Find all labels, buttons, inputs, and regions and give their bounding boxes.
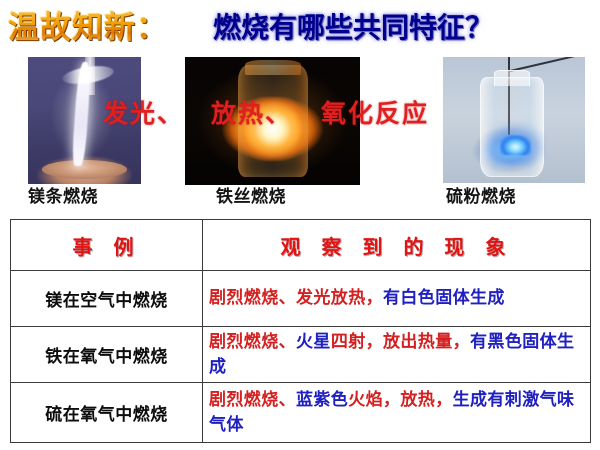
phenomenon-cell-iron: 剧烈燃烧、火星四射，放出热量，有黑色固体生成 [203,327,591,383]
table-header-case-label: 事 例 [73,235,141,259]
blue-flame-shape [500,135,531,155]
phenomenon-cell-magnesium: 剧烈燃烧、发光放热，有白色固体生成 [203,271,591,327]
deflagrating-spoon-arm-shape [510,57,582,71]
title-lead-text: 温故知新： [8,8,168,48]
phenomenon-text-blue-2: 生成 [470,288,505,308]
case-cell-iron: 铁在氧气中燃烧 [11,327,203,383]
phenomenon-text-red-2: 四射，放出热量， [331,332,470,352]
overlay-phrase-heat-release: 放热、 [211,98,292,130]
phenomenon-text-red: 剧烈燃烧、 [209,390,296,410]
crucible-dish-shape [42,160,128,179]
phenomenon-text-red: 剧烈燃烧、发光放热， [209,288,383,308]
caption-sulfur: 硫粉燃烧 [446,186,516,208]
gas-jar-neck-shape [245,60,301,75]
table-row: 铁在氧气中燃烧 剧烈燃烧、火星四射，放出热量，有黑色固体生成 [11,327,591,383]
table-header-phenomenon-cell: 观 察 到 的 现 象 [203,220,591,271]
slide-title-row: 温故知新： 燃烧有哪些共同特征？ [0,6,600,52]
phenomenon-text-blue: 蓝紫色 [296,390,348,410]
phenomenon-text-red: 剧烈燃烧、 [209,332,296,352]
phenomenon-text-red-2: 火焰，放热， [348,390,452,410]
table-header-case-cell: 事 例 [11,220,203,271]
slide-canvas: 温故知新： 燃烧有哪些共同特征？ 发光、 放热、 氧化反应 镁条燃烧 铁丝燃烧 … [0,0,600,450]
table-header-phenomenon-label: 观 察 到 的 现 象 [281,235,513,259]
caption-magnesium: 镁条燃烧 [28,186,98,208]
page-title: 燃烧有哪些共同特征？ [213,9,493,47]
sulfur-powder-burning-photo [443,57,585,183]
observation-table: 事 例 观 察 到 的 现 象 镁在空气中燃烧 剧烈燃烧、发光放热，有白色固体生… [10,219,591,443]
table-header-row: 事 例 观 察 到 的 现 象 [11,220,591,271]
table-row: 镁在空气中燃烧 剧烈燃烧、发光放热，有白色固体生成 [11,271,591,327]
case-cell-sulfur: 硫在氧气中燃烧 [11,383,203,443]
phenomenon-text-blue: 有白色固体 [383,288,470,308]
phenomenon-cell-sulfur: 剧烈燃烧、蓝紫色火焰，放热，生成有刺激气味气体 [203,383,591,443]
overlay-phrase-light-emission: 发光、 [103,98,184,130]
table-row: 硫在氧气中燃烧 剧烈燃烧、蓝紫色火焰，放热，生成有刺激气味气体 [11,383,591,443]
case-cell-magnesium: 镁在空气中燃烧 [11,271,203,327]
caption-iron-wire: 铁丝燃烧 [216,186,286,208]
glass-bottle-neck-shape [494,70,530,86]
overlay-phrase-oxidation-reaction: 氧化反应 [321,98,429,130]
phenomenon-text-blue: 火星 [296,332,331,352]
